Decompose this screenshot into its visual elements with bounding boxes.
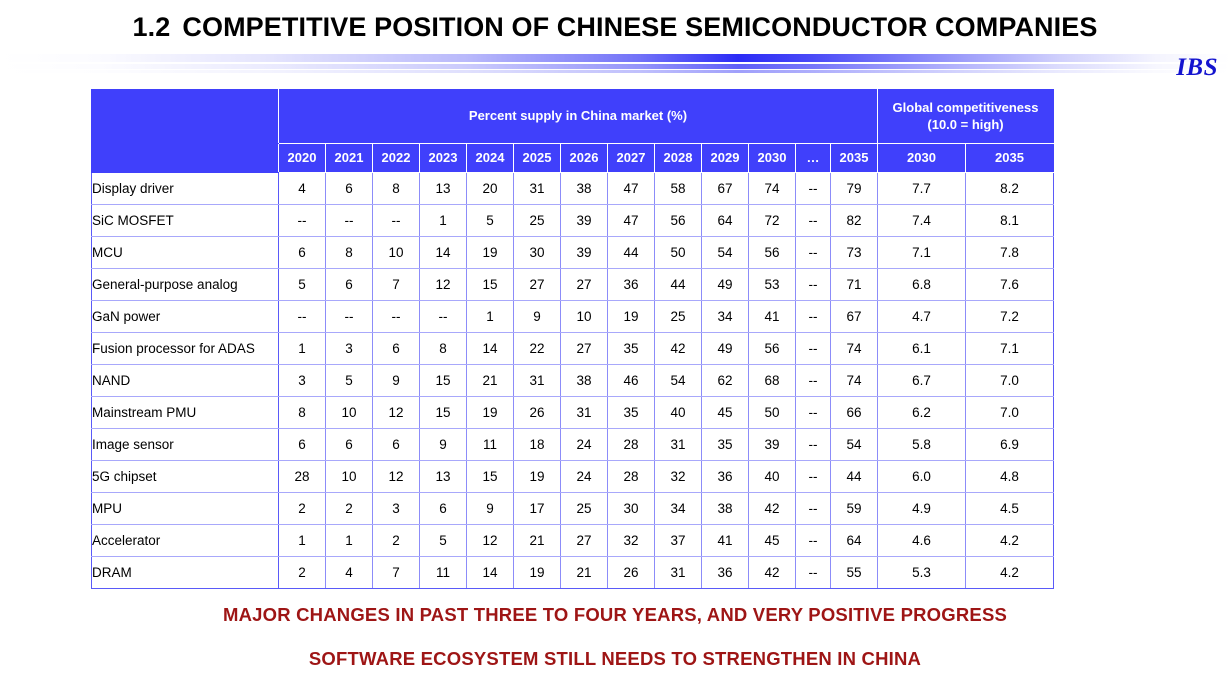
table-cell: 6 <box>420 493 467 525</box>
table-cell: 2 <box>326 493 373 525</box>
table-cell: 6 <box>279 429 326 461</box>
table-cell: 28 <box>608 429 655 461</box>
table-cell: -- <box>796 429 831 461</box>
table-cell: 22 <box>514 333 561 365</box>
table-cell: -- <box>326 205 373 237</box>
table-cell: 2 <box>373 525 420 557</box>
table-cell: 56 <box>655 205 702 237</box>
header-col-2021: 2021 <box>326 144 373 173</box>
table-cell: 24 <box>561 429 608 461</box>
table-cell: 11 <box>420 557 467 589</box>
header-group-global-competitiveness: Global competitiveness (10.0 = high) <box>878 90 1054 144</box>
table-cell: -- <box>796 525 831 557</box>
table-cell: 58 <box>655 173 702 205</box>
table-cell: 42 <box>749 557 796 589</box>
row-label: DRAM <box>92 557 279 589</box>
table-cell: 8 <box>326 237 373 269</box>
page-title: 1.2COMPETITIVE POSITION OF CHINESE SEMIC… <box>0 12 1230 43</box>
table-cell: 25 <box>514 205 561 237</box>
table-row: Display driver4681320313847586774--797.7… <box>92 173 1054 205</box>
row-label: General-purpose analog <box>92 269 279 301</box>
table-cell: 42 <box>655 333 702 365</box>
table-cell: 4.2 <box>966 525 1054 557</box>
table-cell: 62 <box>702 365 749 397</box>
table-cell: 47 <box>608 173 655 205</box>
table-cell: 5 <box>420 525 467 557</box>
header-col-ellipsis: … <box>796 144 831 173</box>
table-cell: 56 <box>749 237 796 269</box>
table-cell: 54 <box>655 365 702 397</box>
table-cell: 6.7 <box>878 365 966 397</box>
slide-number: 1.2 <box>133 12 171 42</box>
table-cell: 44 <box>831 461 878 493</box>
table-cell: 7 <box>373 269 420 301</box>
table-cell: -- <box>796 493 831 525</box>
table-cell: 25 <box>655 301 702 333</box>
table-cell: 7.0 <box>966 397 1054 429</box>
table-cell: 67 <box>831 301 878 333</box>
table-cell: 19 <box>608 301 655 333</box>
row-label: Accelerator <box>92 525 279 557</box>
table-cell: 6.1 <box>878 333 966 365</box>
header-col-2027: 2027 <box>608 144 655 173</box>
table-cell: 1 <box>420 205 467 237</box>
table-cell: 8 <box>279 397 326 429</box>
header-global-line2: (10.0 = high) <box>927 117 1003 132</box>
row-label: 5G chipset <box>92 461 279 493</box>
table-cell: 21 <box>467 365 514 397</box>
table-cell: 27 <box>561 333 608 365</box>
table-body: Display driver4681320313847586774--797.7… <box>92 173 1054 589</box>
table-cell: 36 <box>608 269 655 301</box>
row-label: Image sensor <box>92 429 279 461</box>
table-cell: 6 <box>373 429 420 461</box>
table-cell: -- <box>420 301 467 333</box>
footer-messages: MAJOR CHANGES IN PAST THREE TO FOUR YEAR… <box>0 604 1230 670</box>
table-cell: -- <box>796 205 831 237</box>
table-cell: 28 <box>608 461 655 493</box>
table-cell: -- <box>796 397 831 429</box>
table-row: MPU22369172530343842--594.94.5 <box>92 493 1054 525</box>
table-cell: -- <box>796 173 831 205</box>
competitive-position-table: Percent supply in China market (%) Globa… <box>91 89 1054 589</box>
table-cell: 7.7 <box>878 173 966 205</box>
table-cell: 12 <box>467 525 514 557</box>
table-cell: 1 <box>279 333 326 365</box>
table-cell: 6.0 <box>878 461 966 493</box>
table-cell: 14 <box>420 237 467 269</box>
table-cell: -- <box>796 365 831 397</box>
table-cell: 9 <box>373 365 420 397</box>
table-cell: 34 <box>655 493 702 525</box>
table-cell: 34 <box>702 301 749 333</box>
row-label: GaN power <box>92 301 279 333</box>
table-cell: -- <box>373 205 420 237</box>
table-cell: 10 <box>561 301 608 333</box>
table-cell: 39 <box>561 205 608 237</box>
table-cell: 7 <box>373 557 420 589</box>
table-cell: 3 <box>279 365 326 397</box>
table-cell: 7.4 <box>878 205 966 237</box>
table-cell: -- <box>796 237 831 269</box>
table-cell: 6 <box>326 173 373 205</box>
table-head: Percent supply in China market (%) Globa… <box>92 90 1054 173</box>
header-col-2020: 2020 <box>279 144 326 173</box>
table-row: GaN power--------191019253441--674.77.2 <box>92 301 1054 333</box>
header-rowlabel-blank <box>92 144 279 173</box>
table-cell: 13 <box>420 173 467 205</box>
header-col-2026: 2026 <box>561 144 608 173</box>
table-cell: 5.8 <box>878 429 966 461</box>
table-row: Mainstream PMU810121519263135404550--666… <box>92 397 1054 429</box>
header-col-2023: 2023 <box>420 144 467 173</box>
table-cell: 31 <box>655 429 702 461</box>
table-row: SiC MOSFET------15253947566472--827.48.1 <box>92 205 1054 237</box>
table-cell: 39 <box>749 429 796 461</box>
table-cell: 8 <box>420 333 467 365</box>
table-cell: 25 <box>561 493 608 525</box>
table-cell: 7.6 <box>966 269 1054 301</box>
table-cell: 2 <box>279 557 326 589</box>
table-cell: 4 <box>326 557 373 589</box>
table-row: NAND3591521313846546268--746.77.0 <box>92 365 1054 397</box>
table-cell: 37 <box>655 525 702 557</box>
table-cell: 8.1 <box>966 205 1054 237</box>
header-col-2029: 2029 <box>702 144 749 173</box>
table-cell: 12 <box>373 397 420 429</box>
table-cell: 31 <box>561 397 608 429</box>
table-cell: 40 <box>655 397 702 429</box>
table-cell: 24 <box>561 461 608 493</box>
table-cell: 7.0 <box>966 365 1054 397</box>
table-cell: 21 <box>561 557 608 589</box>
table-cell: 4 <box>279 173 326 205</box>
table-cell: 44 <box>655 269 702 301</box>
table-cell: 15 <box>467 461 514 493</box>
table-cell: 46 <box>608 365 655 397</box>
table-cell: -- <box>279 205 326 237</box>
table-cell: 3 <box>326 333 373 365</box>
table-cell: 31 <box>655 557 702 589</box>
table-cell: 6 <box>326 269 373 301</box>
table-cell: 41 <box>702 525 749 557</box>
table-cell: 13 <box>420 461 467 493</box>
table-cell: 9 <box>514 301 561 333</box>
table-cell: 2 <box>279 493 326 525</box>
table-cell: 41 <box>749 301 796 333</box>
table-cell: 10 <box>326 397 373 429</box>
table-cell: 7.1 <box>966 333 1054 365</box>
table-cell: -- <box>796 333 831 365</box>
divider-bar-secondary <box>0 64 1230 69</box>
table-cell: 19 <box>467 237 514 269</box>
header-col-2024: 2024 <box>467 144 514 173</box>
table-cell: 79 <box>831 173 878 205</box>
table-row: DRAM2471114192126313642--555.34.2 <box>92 557 1054 589</box>
table-cell: 53 <box>749 269 796 301</box>
table-cell: 54 <box>702 237 749 269</box>
row-label: MCU <box>92 237 279 269</box>
table-cell: 6 <box>373 333 420 365</box>
table-cell: 7.1 <box>878 237 966 269</box>
table-cell: 56 <box>749 333 796 365</box>
table-cell: 1 <box>279 525 326 557</box>
table-cell: 66 <box>831 397 878 429</box>
table-cell: 1 <box>467 301 514 333</box>
table-cell: 5 <box>279 269 326 301</box>
table-cell: 6.2 <box>878 397 966 429</box>
table-cell: 32 <box>655 461 702 493</box>
table-cell: 27 <box>561 269 608 301</box>
header-global-line1: Global competitiveness <box>893 100 1039 115</box>
table-cell: 18 <box>514 429 561 461</box>
table-cell: 50 <box>749 397 796 429</box>
table-cell: 49 <box>702 269 749 301</box>
table-row: General-purpose analog567121527273644495… <box>92 269 1054 301</box>
table-cell: 9 <box>420 429 467 461</box>
table-cell: 32 <box>608 525 655 557</box>
table-cell: 27 <box>514 269 561 301</box>
row-label: NAND <box>92 365 279 397</box>
table-cell: 64 <box>702 205 749 237</box>
table-cell: -- <box>279 301 326 333</box>
table-cell: 28 <box>279 461 326 493</box>
table-cell: 38 <box>561 365 608 397</box>
table-cell: 26 <box>608 557 655 589</box>
row-label: Mainstream PMU <box>92 397 279 429</box>
table-cell: 36 <box>702 557 749 589</box>
table-cell: 7.8 <box>966 237 1054 269</box>
table-cell: 4.9 <box>878 493 966 525</box>
divider-bar-primary <box>0 54 1230 62</box>
table-cell: 74 <box>749 173 796 205</box>
table-cell: 50 <box>655 237 702 269</box>
footer-line-2: SOFTWARE ECOSYSTEM STILL NEEDS TO STRENG… <box>0 648 1230 670</box>
table-cell: 59 <box>831 493 878 525</box>
table-cell: -- <box>796 461 831 493</box>
row-label: Display driver <box>92 173 279 205</box>
table-cell: 72 <box>749 205 796 237</box>
table-cell: 14 <box>467 557 514 589</box>
header-col-2028: 2028 <box>655 144 702 173</box>
table-cell: 19 <box>514 461 561 493</box>
table-cell: 4.8 <box>966 461 1054 493</box>
table-cell: 82 <box>831 205 878 237</box>
table-cell: 54 <box>831 429 878 461</box>
table-cell: -- <box>326 301 373 333</box>
header-col-2022: 2022 <box>373 144 420 173</box>
table-row: Image sensor666911182428313539--545.86.9 <box>92 429 1054 461</box>
table-cell: 49 <box>702 333 749 365</box>
table-column-header-row: 2020 2021 2022 2023 2024 2025 2026 2027 … <box>92 144 1054 173</box>
table-row: Fusion processor for ADAS136814222735424… <box>92 333 1054 365</box>
table-cell: 26 <box>514 397 561 429</box>
table-cell: 15 <box>420 365 467 397</box>
row-label: MPU <box>92 493 279 525</box>
table-cell: 74 <box>831 365 878 397</box>
header-col-2035: 2035 <box>831 144 878 173</box>
table-cell: 45 <box>749 525 796 557</box>
header-col-2025: 2025 <box>514 144 561 173</box>
table-cell: 36 <box>702 461 749 493</box>
table-group-header-row: Percent supply in China market (%) Globa… <box>92 90 1054 144</box>
table-cell: 38 <box>702 493 749 525</box>
header-col-global-2035: 2035 <box>966 144 1054 173</box>
header-col-2030: 2030 <box>749 144 796 173</box>
table-cell: 5.3 <box>878 557 966 589</box>
table-cell: 5 <box>467 205 514 237</box>
footer-line-1: MAJOR CHANGES IN PAST THREE TO FOUR YEAR… <box>0 604 1230 626</box>
ibs-logo: IBS <box>1176 54 1218 82</box>
table-cell: 4.7 <box>878 301 966 333</box>
table-cell: 35 <box>608 397 655 429</box>
table-cell: 38 <box>561 173 608 205</box>
table-cell: 4.2 <box>966 557 1054 589</box>
table-cell: 12 <box>420 269 467 301</box>
table-cell: 8.2 <box>966 173 1054 205</box>
table-cell: 10 <box>326 461 373 493</box>
table-cell: 6.8 <box>878 269 966 301</box>
table-cell: 73 <box>831 237 878 269</box>
table-row: 5G chipset2810121315192428323640--446.04… <box>92 461 1054 493</box>
header-col-global-2030: 2030 <box>878 144 966 173</box>
table-cell: 6 <box>279 237 326 269</box>
table-cell: 68 <box>749 365 796 397</box>
table-cell: 6.9 <box>966 429 1054 461</box>
table-cell: 6 <box>326 429 373 461</box>
table-cell: 44 <box>608 237 655 269</box>
table-cell: 31 <box>514 173 561 205</box>
header-group-percent-supply: Percent supply in China market (%) <box>279 90 878 144</box>
table-cell: 40 <box>749 461 796 493</box>
table-cell: 8 <box>373 173 420 205</box>
table-cell: 64 <box>831 525 878 557</box>
data-table-container: Percent supply in China market (%) Globa… <box>91 89 1054 589</box>
table-cell: 47 <box>608 205 655 237</box>
table-cell: 19 <box>467 397 514 429</box>
table-cell: 17 <box>514 493 561 525</box>
table-cell: 4.6 <box>878 525 966 557</box>
header-corner-blank <box>92 90 279 144</box>
divider-bar-tertiary <box>0 70 1230 73</box>
table-cell: 30 <box>608 493 655 525</box>
table-cell: -- <box>796 301 831 333</box>
table-cell: -- <box>373 301 420 333</box>
table-cell: 39 <box>561 237 608 269</box>
table-cell: 19 <box>514 557 561 589</box>
table-cell: 55 <box>831 557 878 589</box>
row-label: SiC MOSFET <box>92 205 279 237</box>
table-cell: 12 <box>373 461 420 493</box>
table-cell: 1 <box>326 525 373 557</box>
table-cell: 30 <box>514 237 561 269</box>
table-cell: 74 <box>831 333 878 365</box>
table-cell: -- <box>796 269 831 301</box>
table-cell: 5 <box>326 365 373 397</box>
table-cell: 27 <box>561 525 608 557</box>
table-cell: 14 <box>467 333 514 365</box>
slide-title-text: COMPETITIVE POSITION OF CHINESE SEMICOND… <box>182 12 1097 42</box>
table-row: MCU68101419303944505456--737.17.8 <box>92 237 1054 269</box>
table-cell: 31 <box>514 365 561 397</box>
table-cell: 4.5 <box>966 493 1054 525</box>
table-cell: 20 <box>467 173 514 205</box>
table-cell: 15 <box>420 397 467 429</box>
table-cell: 42 <box>749 493 796 525</box>
table-cell: 45 <box>702 397 749 429</box>
table-cell: 11 <box>467 429 514 461</box>
row-label: Fusion processor for ADAS <box>92 333 279 365</box>
table-cell: 7.2 <box>966 301 1054 333</box>
table-cell: 10 <box>373 237 420 269</box>
table-cell: 35 <box>702 429 749 461</box>
title-divider <box>0 54 1230 74</box>
table-cell: 15 <box>467 269 514 301</box>
table-cell: -- <box>796 557 831 589</box>
table-cell: 71 <box>831 269 878 301</box>
table-cell: 21 <box>514 525 561 557</box>
table-cell: 3 <box>373 493 420 525</box>
table-cell: 67 <box>702 173 749 205</box>
table-cell: 35 <box>608 333 655 365</box>
table-row: Accelerator112512212732374145--644.64.2 <box>92 525 1054 557</box>
table-cell: 9 <box>467 493 514 525</box>
